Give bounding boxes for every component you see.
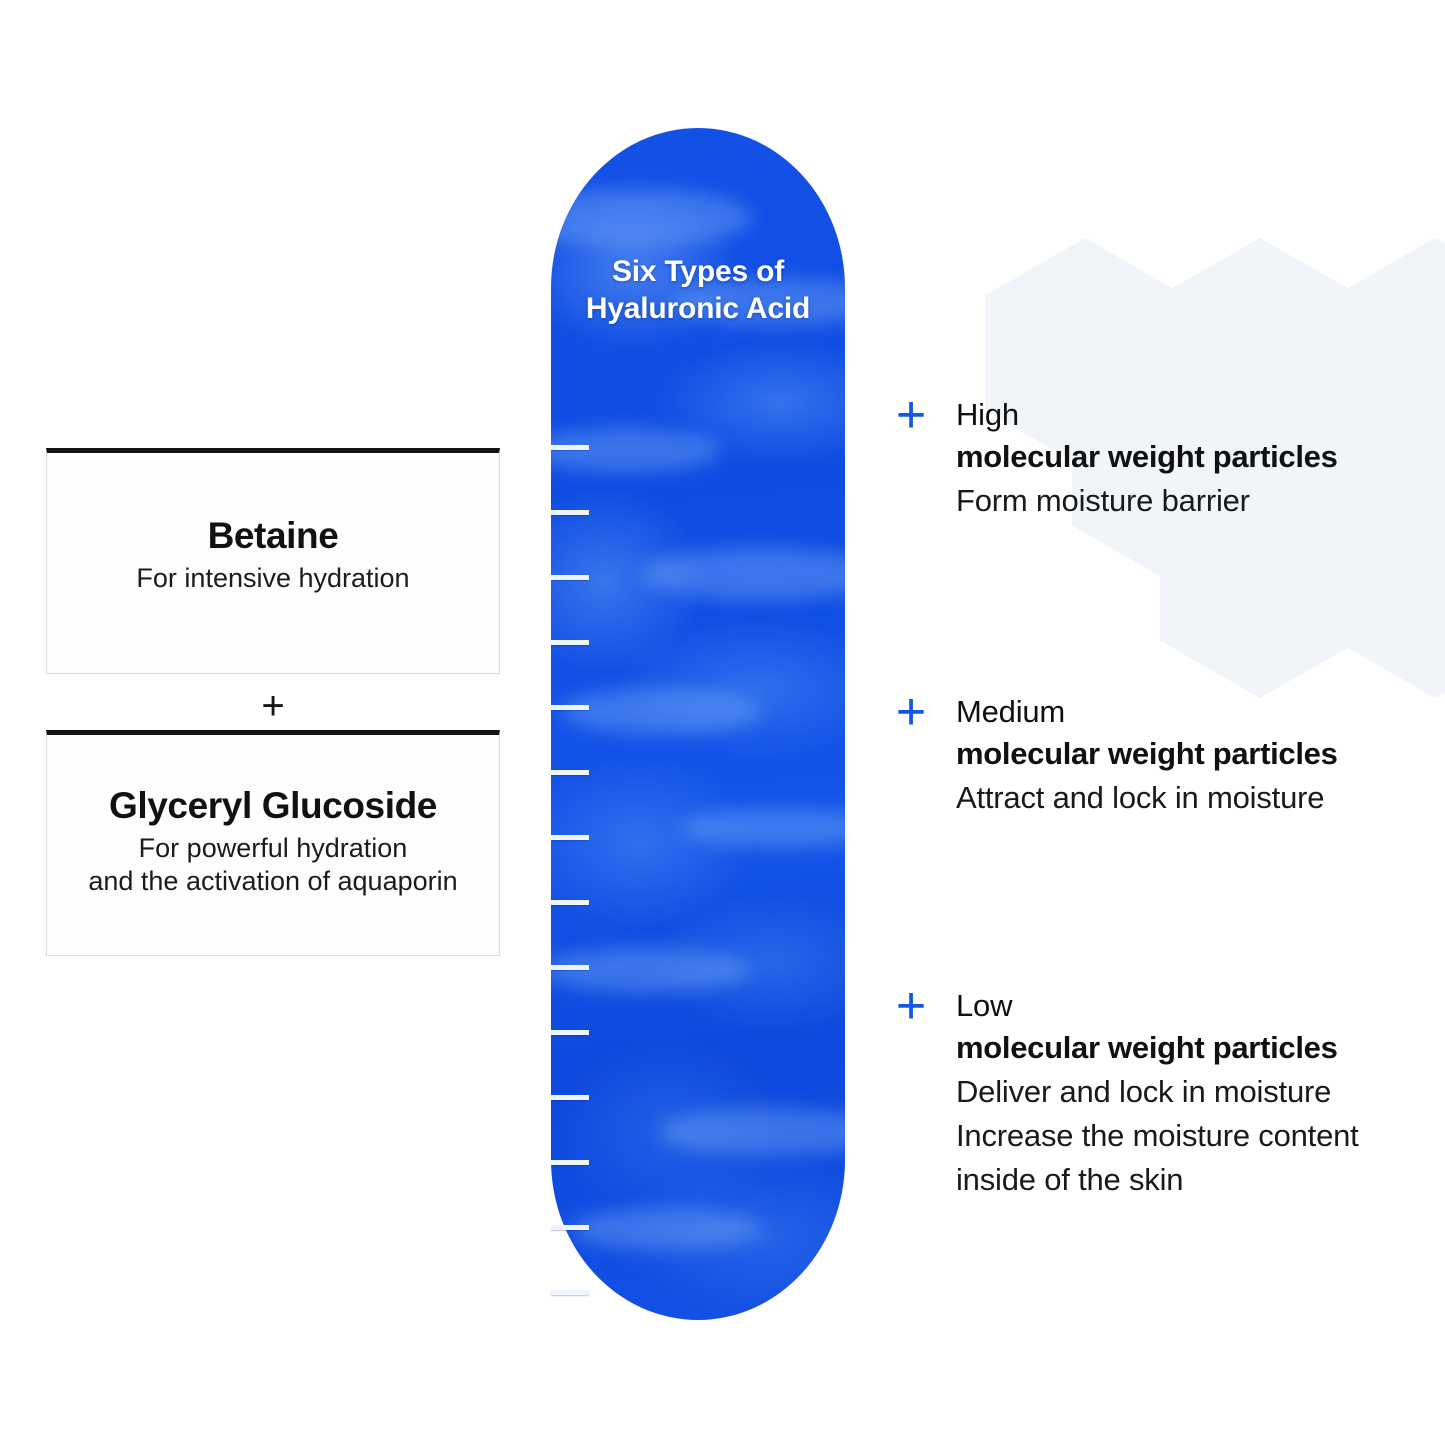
feature-effect-line: Increase the moisture content (956, 1114, 1359, 1158)
water-texture-wisp (551, 948, 751, 992)
feature-text-block: Medium molecular weight particles Attrac… (956, 692, 1338, 820)
water-texture-wisp (661, 1108, 845, 1156)
water-texture-wisp (681, 808, 845, 848)
infographic-canvas: Betaine For intensive hydration + Glycer… (0, 0, 1445, 1445)
feature-kind: molecular weight particles (956, 732, 1338, 776)
ingredient-plus-icon: + (46, 684, 500, 728)
thermometer-title: Six Types of Hyaluronic Acid (551, 254, 845, 328)
ingredient-name: Betaine (208, 515, 339, 556)
ingredient-description-line: For powerful hydration (139, 832, 408, 865)
feature-grade: Low (956, 986, 1359, 1026)
ingredient-card-betaine: Betaine For intensive hydration (46, 448, 500, 674)
feature-effect-line: Attract and lock in moisture (956, 776, 1338, 820)
feature-effect-line: Form moisture barrier (956, 479, 1338, 523)
feature-effect-line: Deliver and lock in moisture (956, 1070, 1359, 1114)
plus-icon: + (888, 986, 934, 1032)
feature-item-high: + High molecular weight particles Form m… (888, 395, 1338, 523)
water-texture-wisp (641, 548, 845, 600)
feature-kind: molecular weight particles (956, 435, 1338, 479)
feature-text-block: Low molecular weight particles Deliver a… (956, 986, 1359, 1202)
feature-item-medium: + Medium molecular weight particles Attr… (888, 692, 1338, 820)
plus-icon: + (888, 395, 934, 441)
ingredient-card-glyceryl-glucoside: Glyceryl Glucoside For powerful hydratio… (46, 730, 500, 956)
ingredient-description-line: and the activation of aquaporin (88, 865, 457, 898)
water-texture-wisp (561, 688, 761, 734)
plus-icon: + (888, 692, 934, 738)
feature-text-block: High molecular weight particles Form moi… (956, 395, 1338, 523)
hexagon-icon (1335, 238, 1445, 468)
thermometer-title-line-2: Hyaluronic Acid (551, 291, 845, 328)
feature-grade: High (956, 395, 1338, 435)
feature-effect-line: inside of the skin (956, 1158, 1359, 1202)
water-texture-wisp (551, 188, 751, 248)
water-texture-wisp (571, 1208, 761, 1250)
feature-item-low: + Low molecular weight particles Deliver… (888, 986, 1359, 1202)
water-texture-wisp (551, 428, 721, 472)
hexagon-icon (1335, 468, 1445, 698)
scale-tick (551, 1290, 589, 1295)
feature-kind: molecular weight particles (956, 1026, 1359, 1070)
feature-grade: Medium (956, 692, 1338, 732)
ingredient-name: Glyceryl Glucoside (109, 785, 437, 826)
thermometer-title-line-1: Six Types of (551, 254, 845, 291)
ingredient-description-line: For intensive hydration (136, 562, 409, 595)
